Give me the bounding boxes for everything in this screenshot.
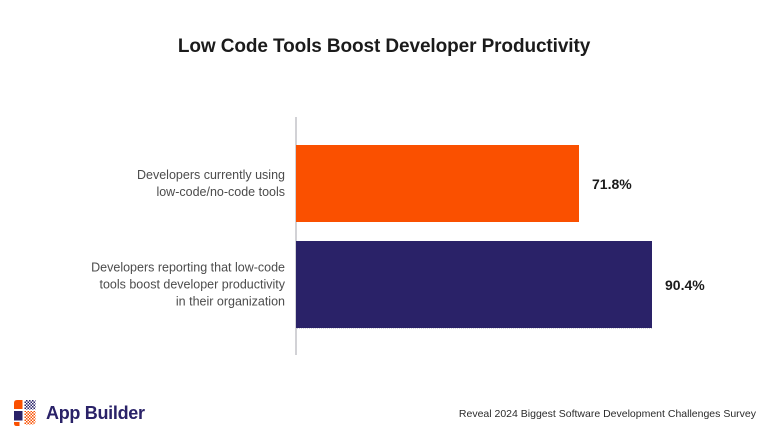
bar-developers-reporting-productivity-boost[interactable] (296, 241, 652, 328)
brand-name-label: App Builder (46, 403, 145, 424)
plot-area: Developers currently using low-code/no-c… (0, 100, 768, 370)
bar-developers-using-low-code[interactable] (296, 145, 579, 222)
app-builder-mark-icon (14, 400, 38, 426)
category-label: Developers reporting that low-code tools… (55, 259, 285, 310)
value-label: 90.4% (665, 277, 705, 293)
bar-row: Developers reporting that low-code tools… (0, 241, 768, 328)
footer: App Builder Reveal 2024 Biggest Software… (0, 395, 768, 439)
baseline-gridline (296, 328, 652, 330)
value-label: 71.8% (592, 176, 632, 192)
page-title: Low Code Tools Boost Developer Productiv… (0, 36, 768, 58)
chart-canvas: Low Code Tools Boost Developer Productiv… (0, 0, 768, 439)
source-note: Reveal 2024 Biggest Software Development… (459, 408, 756, 420)
category-label: Developers currently using low-code/no-c… (55, 167, 285, 201)
bar-row: Developers currently using low-code/no-c… (0, 145, 768, 222)
app-builder-logo[interactable]: App Builder (14, 400, 145, 426)
